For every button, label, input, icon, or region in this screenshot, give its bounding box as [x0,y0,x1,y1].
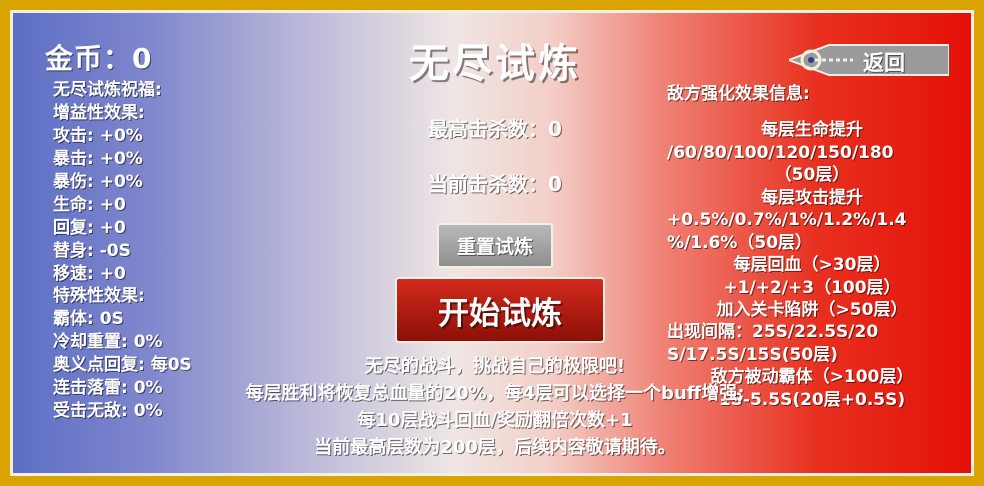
trial-notes: 无尽的战斗，挑战自己的极限吧! 每层胜利将恢复总血量的20%，每4层可以选择一个… [13,353,974,461]
buff-item: 替身: -0S [53,240,303,263]
game-screen: 金币：0 无尽试炼 返回 无尽试炼祝福: 增益性效果: 攻击: +0% 暴击: … [0,0,984,486]
enemy-entry-title: 每层生命提升 [667,119,957,141]
special-item: 霸体: 0S [53,308,303,331]
special-item: 冷却重置: 0% [53,331,303,354]
blessing-section-title: 无尽试炼祝福: [53,79,303,102]
max-kill-label: 最高击杀数： [428,117,548,141]
start-trial-button[interactable]: 开始试炼 [395,277,605,343]
enemy-section-title: 敌方强化效果信息: [667,83,957,105]
enemy-entry-line: +0.5%/0.7%/1%/1.2%/1.4 [667,209,957,231]
endless-trial-panel: 金币：0 无尽试炼 返回 无尽试炼祝福: 增益性效果: 攻击: +0% 暴击: … [10,10,974,476]
buff-item: 攻击: +0% [53,125,303,148]
note-line: 每10层战斗回血/奖励翻倍次数+1 [13,407,974,434]
special-section-title: 特殊性效果: [53,285,303,308]
enemy-entry-line: 出现间隔：25S/22.5S/20 [667,321,957,343]
current-kill-label: 当前击杀数： [428,172,548,196]
enemy-entry-title: 每层攻击提升 [667,187,957,209]
enemy-entry-title: 每层回血（>30层） [667,254,957,276]
current-kill-value: 0 [548,172,562,196]
enemy-entry-line: %/1.6%（50层） [667,232,957,254]
reset-trial-button[interactable]: 重置试炼 [437,223,553,268]
buff-item: 暴击: +0% [53,148,303,171]
buff-section-title: 增益性效果: [53,102,303,125]
buff-item: 暴伤: +0% [53,171,303,194]
max-kill-count: 最高击杀数：0 [345,113,645,142]
enemy-entry-line: /60/80/100/120/150/180 [667,142,957,164]
enemy-entry-title: 加入关卡陷阱（>50层） [667,299,957,321]
buff-item: 生命: +0 [53,194,303,217]
buff-item: 移速: +0 [53,263,303,286]
back-button[interactable]: 返回 [789,43,949,77]
center-stats: 最高击杀数：0 当前击杀数：0 重置试炼 [345,113,645,268]
back-label: 返回 [863,47,905,77]
current-kill-count: 当前击杀数：0 [345,168,645,197]
max-kill-value: 0 [548,117,562,141]
note-line: 无尽的战斗，挑战自己的极限吧! [13,353,974,380]
enemy-entry-line: +1/+2/+3（100层） [667,277,957,299]
enemy-entry-line: （50层） [667,164,957,186]
buff-item: 回复: +0 [53,217,303,240]
note-line: 当前最高层数为200层，后续内容敬请期待。 [13,434,974,461]
note-line: 每层胜利将恢复总血量的20%，每4层可以选择一个buff增强; [13,380,974,407]
